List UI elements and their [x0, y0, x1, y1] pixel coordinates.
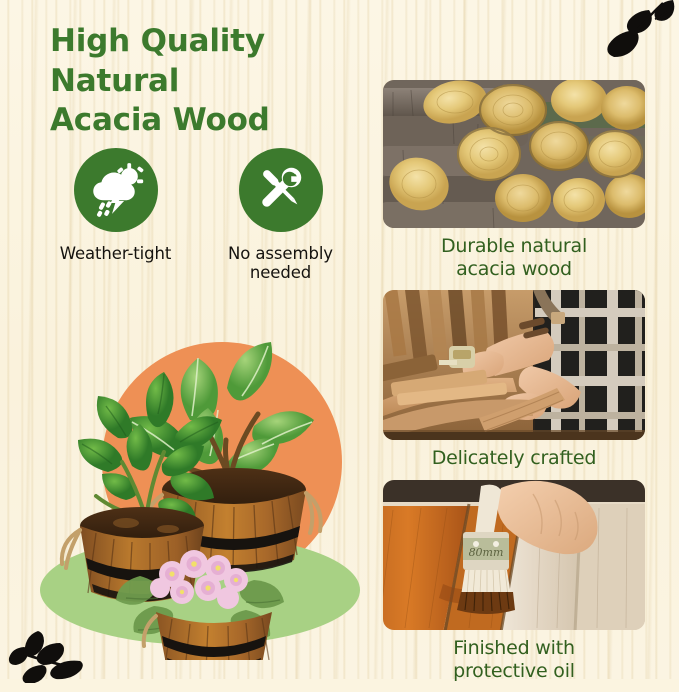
storm-cloud-icon — [87, 159, 145, 221]
photo-block-craft: Delicately crafted — [383, 290, 645, 470]
leaf-sprig-bottom-left — [8, 621, 90, 683]
feature-weather-tight: Weather-tight — [48, 148, 183, 283]
photo-column: Durable natural acacia wood — [383, 80, 645, 692]
three-wooden-barrel-planters — [22, 330, 367, 660]
page-title-line1: High Quality Natural — [50, 22, 380, 101]
feature-no-assembly: No assembly needed — [213, 148, 348, 283]
photo-block-oil: 80mm Finished with protective oil — [383, 480, 645, 683]
leaf-sprig-top-right — [605, 0, 675, 60]
feature-badge — [74, 148, 158, 232]
craftsman-measuring-wood-photo — [383, 290, 645, 440]
feature-label: Weather-tight — [60, 244, 172, 263]
photo-caption: Finished with protective oil — [383, 637, 645, 683]
feature-badge — [239, 148, 323, 232]
page-title: High Quality Natural Acacia Wood — [50, 22, 380, 141]
stacked-cut-logs-photo — [383, 80, 645, 228]
photo-block-logs: Durable natural acacia wood — [383, 80, 645, 281]
brush-applying-oil-photo: 80mm — [383, 480, 645, 630]
photo-caption: Delicately crafted — [383, 447, 645, 470]
wrench-screwdriver-icon — [253, 160, 309, 220]
feature-list: Weather-tight — [48, 148, 358, 283]
feature-label: No assembly needed — [213, 244, 348, 283]
page-title-line2: Acacia Wood — [50, 101, 380, 141]
brush-size-label: 80mm — [469, 546, 504, 559]
photo-caption: Durable natural acacia wood — [383, 235, 645, 281]
hero-product-image — [22, 330, 367, 660]
